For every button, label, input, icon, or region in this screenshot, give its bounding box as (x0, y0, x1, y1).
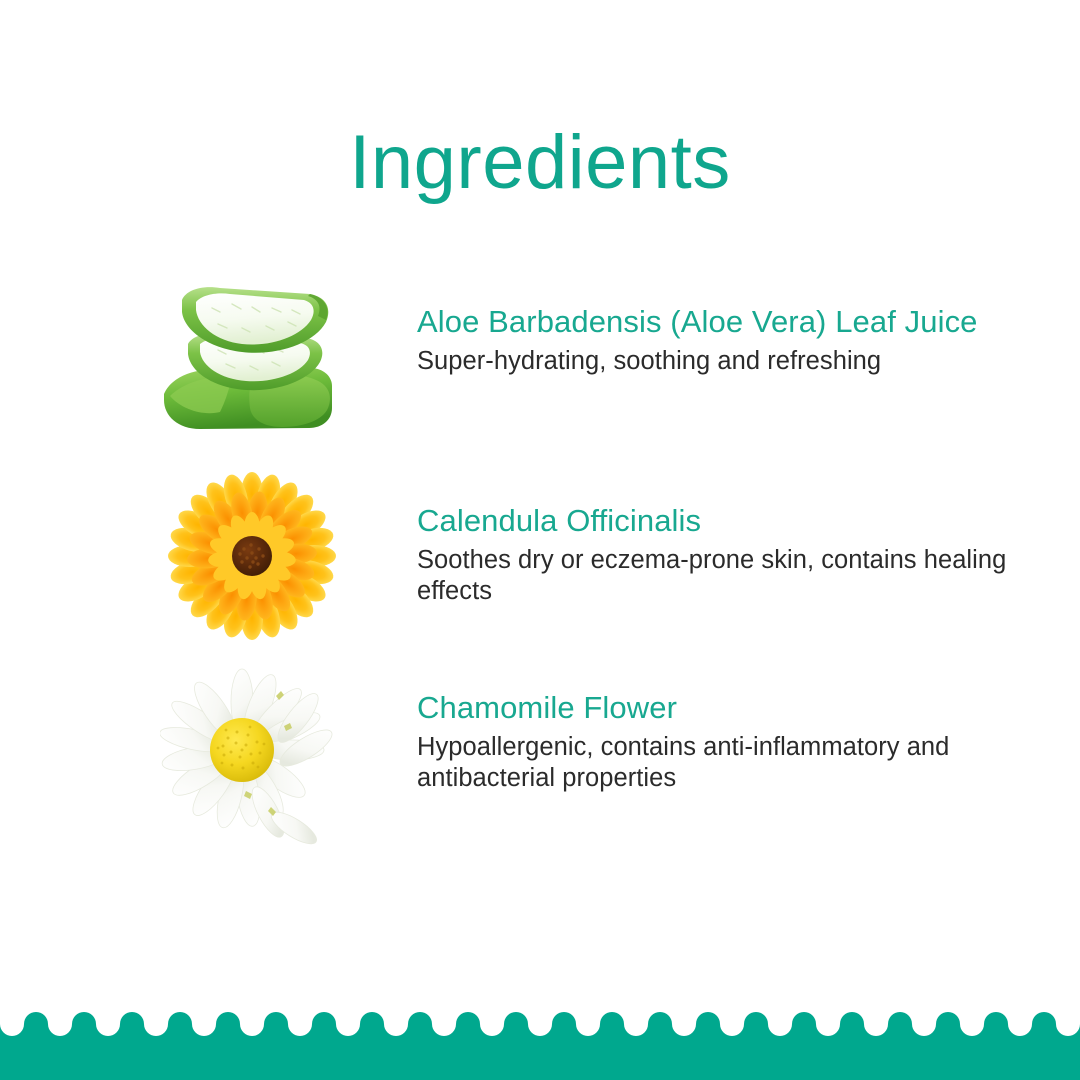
ingredient-description: Super-hydrating, soothing and refreshing (417, 346, 1040, 377)
ingredient-item-chamomile: Chamomile Flower Hypoallergenic, contain… (0, 666, 1080, 866)
ingredient-image-wrapper (0, 278, 417, 474)
chamomile-flower-image (160, 660, 360, 860)
aloe-vera-slices-image (160, 282, 346, 438)
ingredient-item-aloe: Aloe Barbadensis (Aloe Vera) Leaf Juice … (0, 278, 1080, 474)
ingredient-name: Aloe Barbadensis (Aloe Vera) Leaf Juice (417, 302, 1040, 342)
wave-border-shape (0, 1008, 1080, 1080)
ingredient-image-wrapper (0, 666, 417, 866)
ingredient-name: Chamomile Flower (417, 688, 1040, 728)
ingredient-text-block: Aloe Barbadensis (Aloe Vera) Leaf Juice … (417, 278, 1080, 377)
ingredient-item-calendula: Calendula Officinalis Soothes dry or ecz… (0, 474, 1080, 666)
ingredient-text-block: Chamomile Flower Hypoallergenic, contain… (417, 666, 1080, 794)
page-title: Ingredients (0, 123, 1080, 203)
ingredient-description: Soothes dry or eczema-prone skin, contai… (417, 545, 1040, 607)
ingredients-slide: Ingredients (0, 0, 1080, 1080)
scalloped-wave-border (0, 1008, 1080, 1080)
calendula-flower-image (168, 472, 336, 640)
ingredient-image-wrapper (0, 474, 417, 666)
ingredient-name: Calendula Officinalis (417, 501, 1040, 541)
ingredient-list: Aloe Barbadensis (Aloe Vera) Leaf Juice … (0, 278, 1080, 866)
ingredient-description: Hypoallergenic, contains anti-inflammato… (417, 732, 1040, 794)
ingredient-text-block: Calendula Officinalis Soothes dry or ecz… (417, 474, 1080, 607)
